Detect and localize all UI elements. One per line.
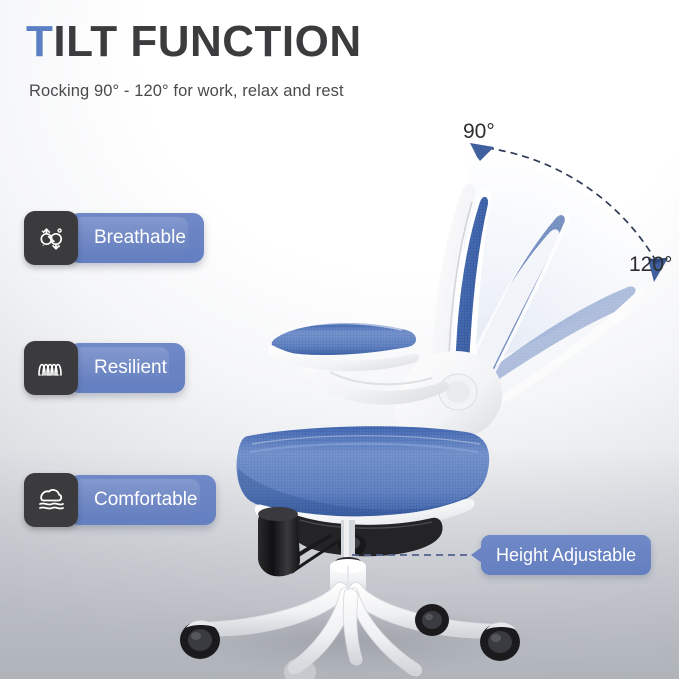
tilt-angle-annotation xyxy=(0,0,679,679)
feature-badge-resilient[interactable]: Resilient xyxy=(24,341,185,395)
product-infographic: TILT FUNCTION Rocking 90° - 120° for wor… xyxy=(0,0,679,679)
tilt-arc-dashed xyxy=(487,148,660,268)
arrow-90 xyxy=(470,143,494,161)
title-rest: ILT FUNCTION xyxy=(53,17,361,66)
page-title: TILT FUNCTION xyxy=(26,20,362,64)
cushion-layers-icon xyxy=(24,473,78,527)
feature-label-breathable: Breathable xyxy=(68,213,204,263)
angle-label-max: 120° xyxy=(629,253,672,277)
feature-badge-breathable[interactable]: Breathable xyxy=(24,211,204,265)
feature-label-resilient: Resilient xyxy=(68,343,185,393)
air-circulation-icon xyxy=(24,211,78,265)
feature-badge-comfortable[interactable]: Comfortable xyxy=(24,473,216,527)
page-subtitle: Rocking 90° - 120° for work, relax and r… xyxy=(29,82,344,101)
feature-label-comfortable: Comfortable xyxy=(68,475,216,525)
angle-label-min: 90° xyxy=(463,120,495,144)
callout-height-adjustable[interactable]: Height Adjustable xyxy=(481,535,651,575)
chair-illustration xyxy=(0,0,679,679)
spring-coil-icon xyxy=(24,341,78,395)
title-accent-letter: T xyxy=(26,17,53,66)
